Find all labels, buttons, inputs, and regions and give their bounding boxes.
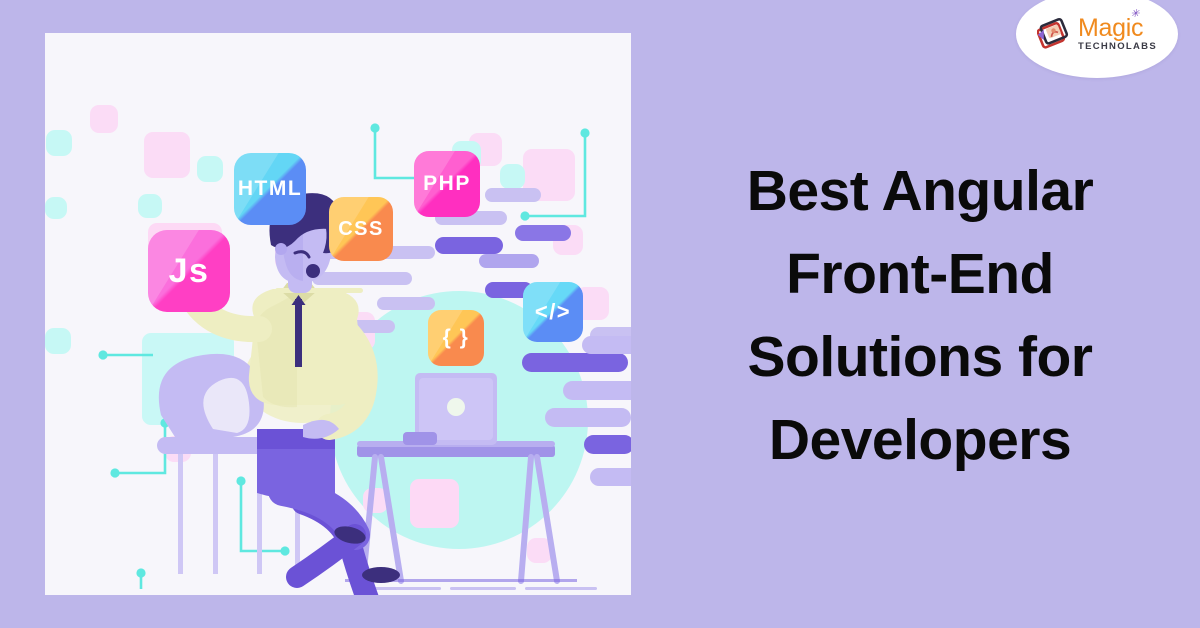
blog-banner: Magic ✳ TECHNOLABS [0,0,1200,628]
tech-badge-label: CSS [338,218,384,241]
tech-badge-label: Js [169,252,210,291]
logo-name: Magic ✳ [1078,16,1143,40]
illustration-card: JsHTMLCSSPHP{ }</> [45,33,631,595]
sparkle-icon: ✳ [1130,9,1139,20]
tech-badge-label: HTML [238,177,302,201]
logo-subtitle: TECHNOLABS [1078,41,1157,52]
headline-line-2: Front-End [660,233,1180,316]
tech-badge-html[interactable]: HTML [234,153,306,225]
tech-badge-label: </> [535,299,571,325]
tech-badge-[interactable]: { } [428,310,484,366]
tech-badge-php[interactable]: PHP [414,151,480,217]
tech-badge-js[interactable]: Js [148,230,230,312]
magic-technolabs-mark-icon [1037,17,1071,51]
headline-line-1: Best Angular [660,150,1180,233]
tech-badge-[interactable]: </> [523,282,583,342]
brand-logo[interactable]: Magic ✳ TECHNOLABS [1016,0,1178,78]
headline-line-4: Developers [660,399,1180,482]
logo-inner: Magic ✳ TECHNOLABS [1016,4,1178,64]
tech-badge-css[interactable]: CSS [329,197,393,261]
page-title: Best Angular Front-End Solutions for Dev… [660,150,1180,482]
tech-badge-label: PHP [423,172,471,196]
logo-wordmark: Magic ✳ TECHNOLABS [1078,16,1157,52]
headline-line-3: Solutions for [660,316,1180,399]
tech-badge-label: { } [443,326,470,350]
